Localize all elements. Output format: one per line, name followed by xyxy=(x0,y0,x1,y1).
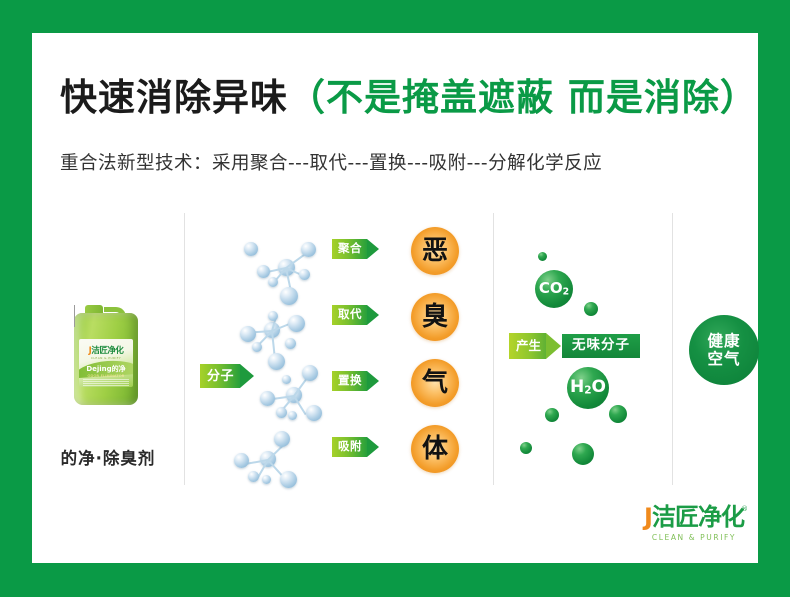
atom xyxy=(262,475,271,484)
atom xyxy=(234,453,249,468)
label-body-decor xyxy=(83,379,129,386)
step-arrow-3: 置换 xyxy=(332,371,379,391)
input-arrow-label: 分子 xyxy=(207,370,234,383)
callout-leader-line xyxy=(74,305,75,327)
atom xyxy=(282,375,291,384)
atom xyxy=(268,277,278,287)
column-divider-2 xyxy=(493,213,494,485)
step-arrow-2: 取代 xyxy=(332,305,379,325)
poster-root: 快速消除异味（不是掩盖遮蔽 而是消除） 重合法新型技术：采用聚合---取代---… xyxy=(0,0,790,597)
h2o-label: H2O xyxy=(570,379,606,396)
h2o-molecule: H2O xyxy=(567,367,609,409)
co2-subscript: 2 xyxy=(563,287,569,298)
atom xyxy=(288,315,305,332)
produce-arrow: 产生 xyxy=(509,333,561,359)
co2-molecule: CO2 xyxy=(535,270,573,308)
atom xyxy=(244,242,258,256)
healthy-air-circle: 健康 空气 xyxy=(689,315,759,385)
step-arrow-2-body: 取代 xyxy=(332,305,367,325)
atom xyxy=(248,471,259,482)
molecule-cluster-3 xyxy=(252,363,338,433)
healthy-air-line2: 空气 xyxy=(707,350,740,368)
footer-logo-j: J xyxy=(644,503,652,531)
result-circle-2: 臭 xyxy=(411,293,459,341)
page-title: 快速消除异味（不是掩盖遮蔽 而是消除） xyxy=(60,79,758,116)
product-caption: 的净·除臭剂 xyxy=(32,445,184,469)
step-arrow-1-body: 聚合 xyxy=(332,239,367,259)
green-particle xyxy=(572,443,594,465)
product-bottle: J洁匠净化 CLEAN & PURIFY Dejing的净 ODOR ELIMI… xyxy=(68,305,148,415)
step-arrow-3-body: 置换 xyxy=(332,371,367,391)
odorless-bar: 无味分子 xyxy=(562,334,640,358)
step-arrow-3-head-icon xyxy=(367,371,379,391)
footer-logo-text: J洁匠净化 xyxy=(634,505,754,529)
h2o-o: O xyxy=(592,377,606,397)
atom xyxy=(260,391,275,406)
label-brand-text: 洁匠净化 xyxy=(91,346,123,356)
co2-label: CO2 xyxy=(539,281,569,297)
atom xyxy=(288,411,297,420)
green-particle xyxy=(584,302,598,316)
bottle-label: J洁匠净化 CLEAN & PURIFY Dejing的净 ODOR ELIMI… xyxy=(79,339,133,387)
content-card: 快速消除异味（不是掩盖遮蔽 而是消除） 重合法新型技术：采用聚合---取代---… xyxy=(32,33,758,563)
atom xyxy=(276,407,287,418)
co2-text: CO xyxy=(539,279,563,297)
step-arrow-4-body: 吸附 xyxy=(332,437,367,457)
green-particle xyxy=(609,405,627,423)
step-arrow-2-head-icon xyxy=(367,305,379,325)
page-title-dark: 快速消除异味 xyxy=(60,76,288,119)
produce-arrow-head-icon xyxy=(546,333,561,359)
h2o-subscript: 2 xyxy=(584,385,591,397)
footer-logo-tagline: CLEAN & PURIFY xyxy=(634,533,754,542)
page-title-green: （不是掩盖遮蔽 而是消除） xyxy=(288,76,758,119)
column-divider-1 xyxy=(184,213,185,485)
result-circle-1: 恶 xyxy=(411,227,459,275)
result-circle-4-label: 体 xyxy=(422,436,448,462)
atom xyxy=(240,326,256,342)
odorless-bar-label: 无味分子 xyxy=(572,339,630,353)
h2o-h: H xyxy=(570,377,584,397)
atom xyxy=(252,342,262,352)
result-circle-4: 体 xyxy=(411,425,459,473)
atom xyxy=(285,338,296,349)
result-circle-3: 气 xyxy=(411,359,459,407)
atom xyxy=(268,311,278,321)
result-circle-3-label: 气 xyxy=(422,370,448,396)
step-arrow-1-label: 聚合 xyxy=(338,243,362,255)
atom xyxy=(299,269,310,280)
produce-arrow-body: 产生 xyxy=(509,333,546,359)
step-arrow-2-label: 取代 xyxy=(338,309,362,321)
result-circle-1-label: 恶 xyxy=(422,238,448,264)
label-product-name: Dejing的净 xyxy=(79,366,133,373)
footer-logo: J洁匠净化 ® CLEAN & PURIFY xyxy=(634,503,754,549)
atom xyxy=(302,365,318,381)
atom xyxy=(274,431,290,447)
column-divider-3 xyxy=(672,213,673,485)
step-arrow-4: 吸附 xyxy=(332,437,379,457)
footer-logo-brand: 洁匠净化 xyxy=(652,503,744,531)
molecule-cluster-1 xyxy=(244,233,330,303)
green-particle xyxy=(545,408,559,422)
bottle-body-icon: J洁匠净化 CLEAN & PURIFY Dejing的净 ODOR ELIMI… xyxy=(74,313,138,405)
process-diagram: J洁匠净化 CLEAN & PURIFY Dejing的净 ODOR ELIMI… xyxy=(32,205,758,495)
atom xyxy=(257,265,270,278)
green-particle xyxy=(538,252,547,261)
atom xyxy=(280,471,297,488)
label-product-sub: ODOR ELIMINATOR xyxy=(79,374,133,378)
produce-arrow-label: 产生 xyxy=(516,340,541,353)
atom xyxy=(301,242,316,257)
molecule-cluster-4 xyxy=(228,429,314,499)
step-arrow-3-label: 置换 xyxy=(338,375,362,387)
label-brand-tagline: CLEAN & PURIFY xyxy=(79,356,133,360)
atom xyxy=(306,405,322,421)
step-arrow-4-label: 吸附 xyxy=(338,441,362,453)
step-arrow-1: 聚合 xyxy=(332,239,379,259)
green-particle xyxy=(520,442,532,454)
step-arrow-4-head-icon xyxy=(367,437,379,457)
healthy-air-line1: 健康 xyxy=(707,332,740,350)
footer-logo-registered-icon: ® xyxy=(741,505,748,513)
result-circle-2-label: 臭 xyxy=(422,304,448,330)
label-brand: J洁匠净化 xyxy=(79,347,133,356)
page-subtitle: 重合法新型技术：采用聚合---取代---置换---吸附---分解化学反应 xyxy=(60,149,602,175)
molecule-cluster-2 xyxy=(230,298,316,368)
step-arrow-1-head-icon xyxy=(367,239,379,259)
